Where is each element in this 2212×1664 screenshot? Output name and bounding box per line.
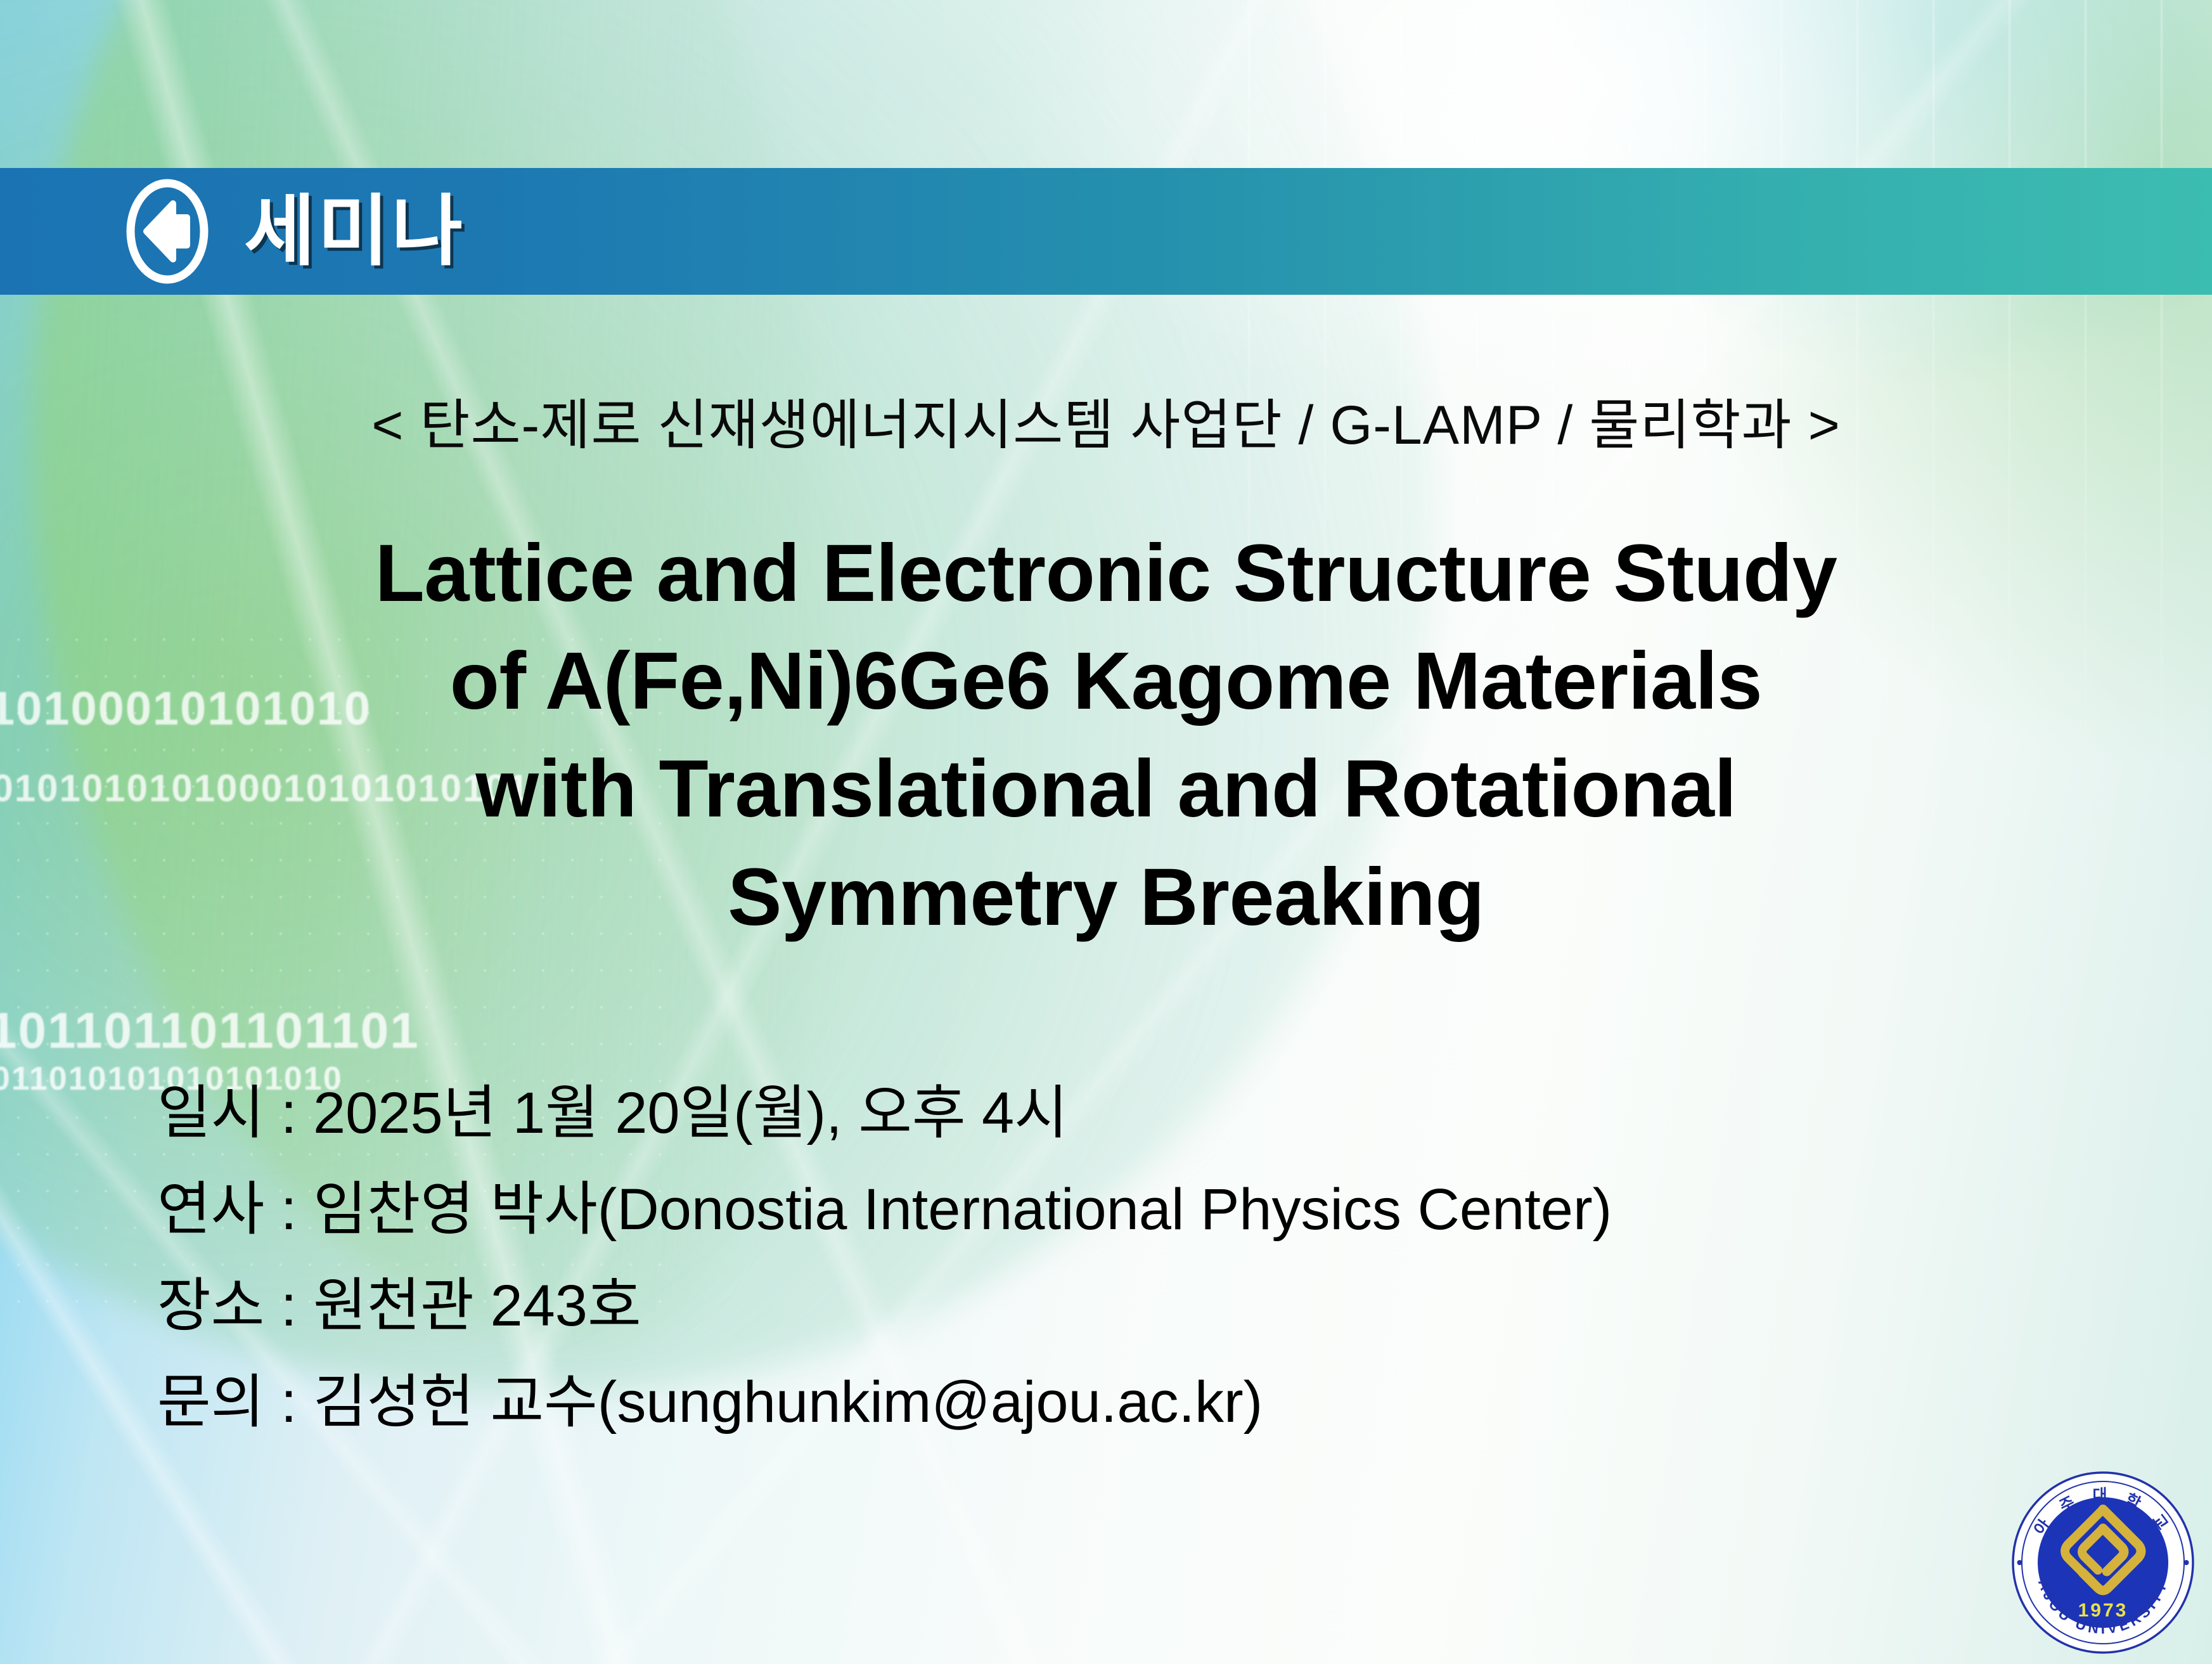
ajou-university-logo: 1973 아 주 대 학 교 AJOU UNIVERSITY: [2008, 1467, 2198, 1658]
title-line: of A(Fe,Ni)6Ge6 Kagome Materials: [114, 628, 2098, 735]
title-line: with Translational and Rotational: [114, 735, 2098, 843]
seminar-poster: 10100010101010 1010101010100010101010101…: [0, 0, 2212, 1664]
detail-speaker: 연사 : 임찬영 박사(Donostia International Physi…: [157, 1180, 2122, 1239]
seminar-title: Lattice and Electronic Structure Study o…: [114, 520, 2098, 951]
detail-contact: 문의 : 김성헌 교수(sunghunkim@ajou.ac.kr): [157, 1373, 2122, 1431]
seminar-details: 일시 : 2025년 1월 20일(월), 오후 4시 연사 : 임찬영 박사(…: [157, 1084, 2122, 1431]
detail-location: 장소 : 원천관 243호: [157, 1277, 2122, 1335]
title-line: Symmetry Breaking: [114, 844, 2098, 951]
title-line: Lattice and Electronic Structure Study: [114, 520, 2098, 628]
organizer-subtitle: < 탄소-제로 신재생에너지시스템 사업단 / G-LAMP / 물리학과 >: [0, 380, 2212, 460]
poster-content: < 탄소-제로 신재생에너지시스템 사업단 / G-LAMP / 물리학과 > …: [0, 0, 2212, 1664]
detail-datetime: 일시 : 2025년 1월 20일(월), 오후 4시: [157, 1084, 2122, 1142]
